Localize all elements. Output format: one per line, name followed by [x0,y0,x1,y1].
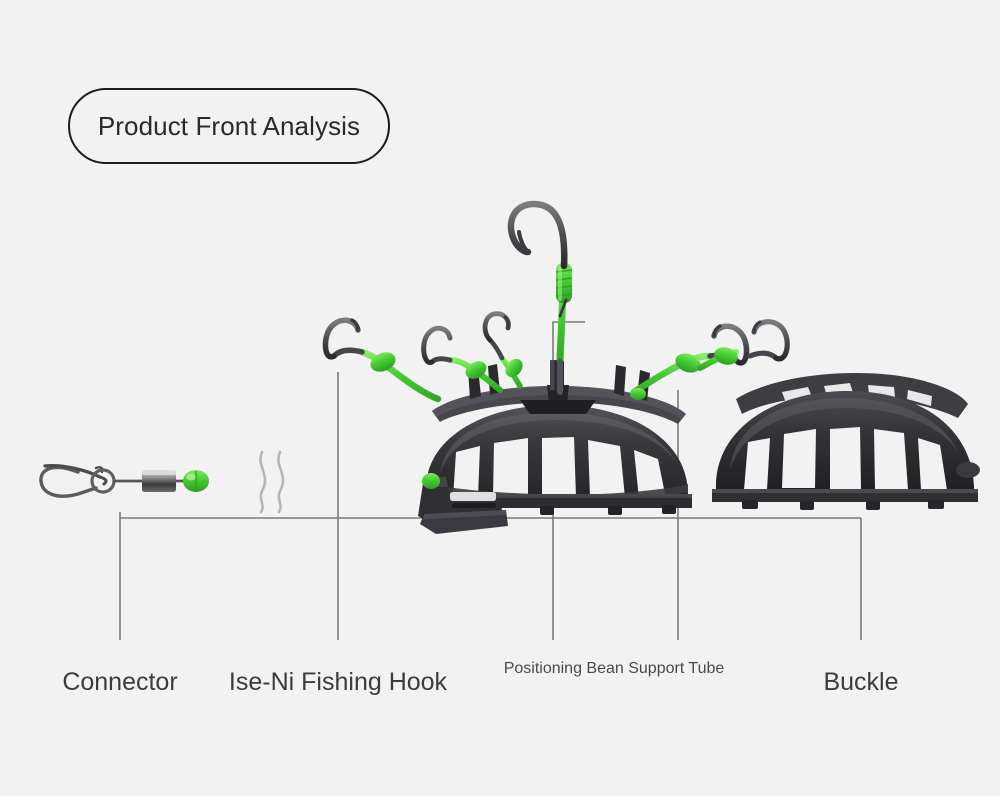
swivel-eye [92,470,114,492]
callout-label-bean: Positioning Bean Support Tube [504,660,725,678]
callout-label-hook: Ise-Ni Fishing Hook [229,668,447,697]
page-title: Product Front Analysis [98,111,360,142]
page-title-pill: Product Front Analysis [68,88,390,164]
callout-label-buckle: Buckle [823,668,898,697]
dome-cage-rear [712,373,980,510]
fishing-hooks-left [325,314,526,399]
product-diagram-canvas: Product Front Analysis Connector Ise-Ni … [0,0,1000,796]
callout-label-connector: Connector [62,668,177,697]
snap-connector [41,466,209,497]
